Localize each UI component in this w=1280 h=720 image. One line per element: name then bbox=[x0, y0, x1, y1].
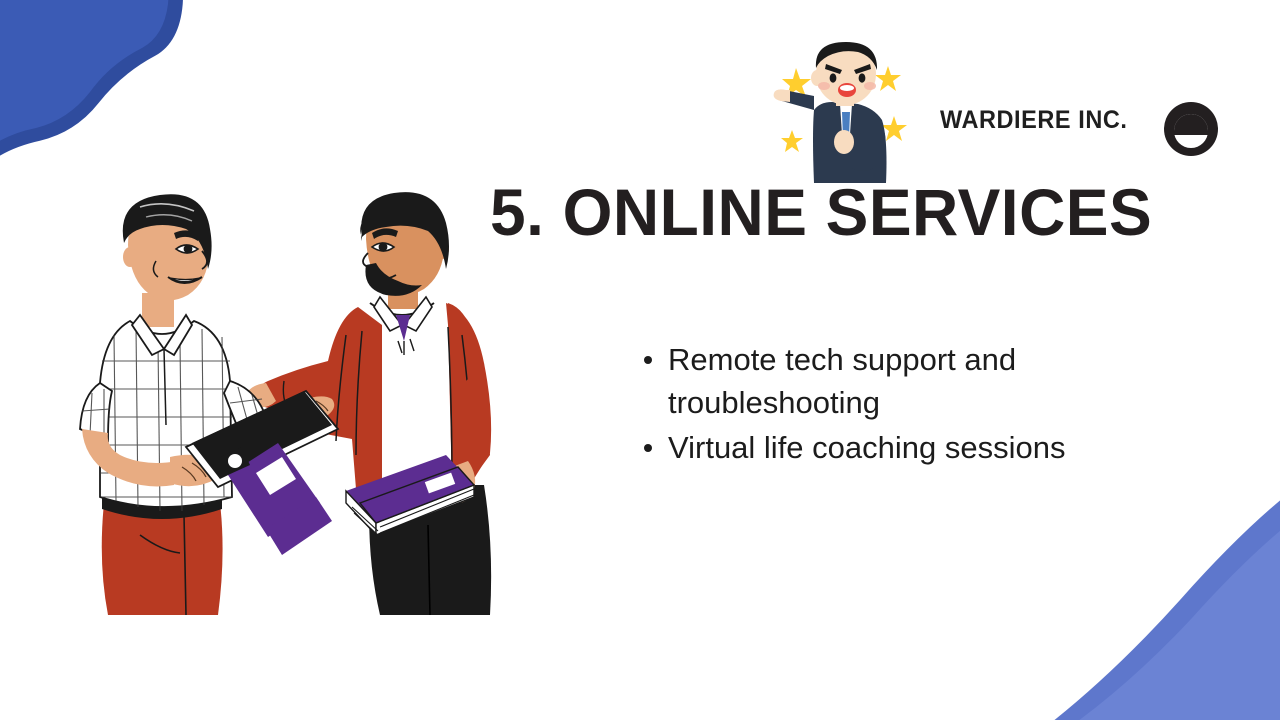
list-item: Virtual life coaching sessions bbox=[668, 426, 1138, 469]
brand-name: WARDIERE INC. bbox=[940, 106, 1128, 135]
brand-row: WARDIERE INC. bbox=[770, 28, 1230, 178]
presentation-slide: WARDIERE INC. 5. ONLINE SERVICES Remote … bbox=[0, 0, 1280, 720]
bullet-list: Remote tech support and troubleshooting … bbox=[634, 338, 1138, 471]
list-item: Remote tech support and troubleshooting bbox=[668, 338, 1138, 424]
bottom-right-wave bbox=[1020, 500, 1280, 720]
top-left-blob-outline bbox=[0, 0, 183, 166]
left-figure bbox=[80, 194, 338, 615]
top-left-blob bbox=[0, 0, 168, 150]
circle-ring-logo-icon bbox=[1160, 98, 1222, 160]
page-title: 5. ONLINE SERVICES bbox=[490, 176, 1169, 248]
bottom-right-wave-outline bbox=[1000, 470, 1280, 720]
pointing-businessman-mascot-icon bbox=[770, 38, 920, 183]
two-men-with-tablet-and-books-illustration bbox=[70, 185, 540, 615]
